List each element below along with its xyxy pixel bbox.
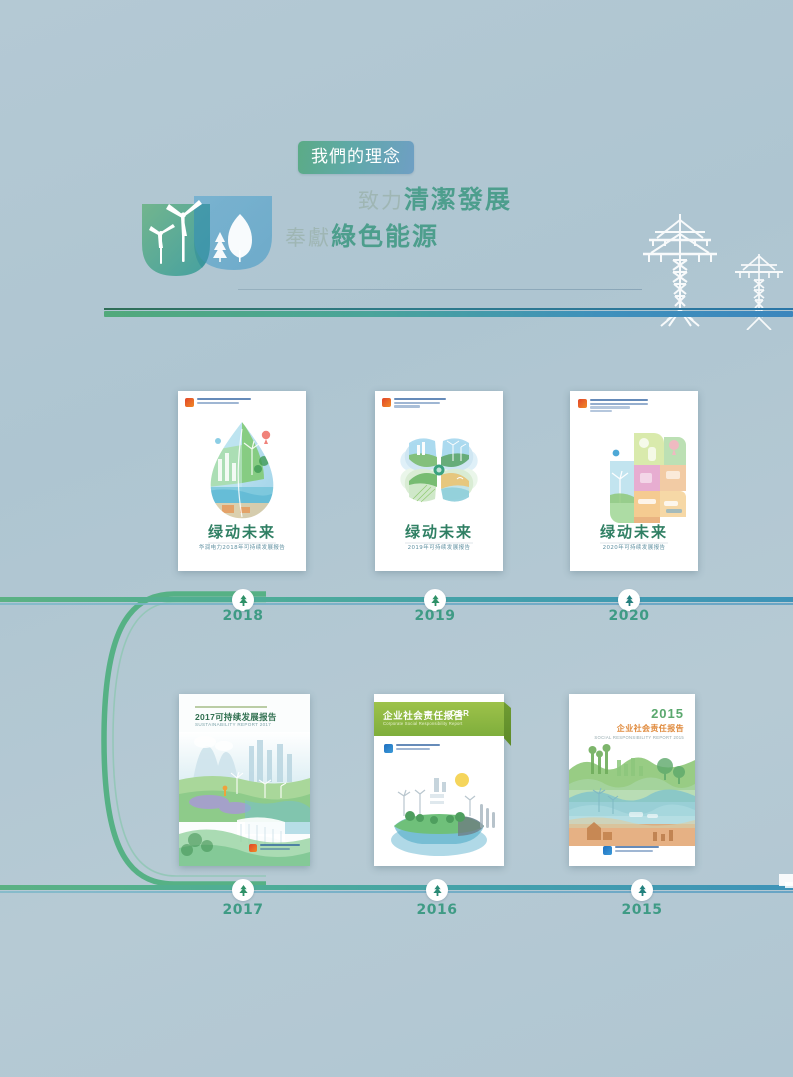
report-cover-2016[interactable]: 企业社会责任报告 CSR Corporate Social Responsibi… [374,694,504,866]
cover-subtitle-2015: SOCIAL RESPONSIBILITY REPORT 2015 [594,735,684,740]
tagline-line-2-light: 奉獻 [285,226,331,250]
tagline-line-2-bold: 綠色能源 [331,222,439,251]
pine-tree-icon [429,594,442,607]
divider-thick-bar [104,311,793,317]
publisher-text-lines [394,398,446,408]
cover-kicker-2017 [195,706,267,708]
cover-publisher-logo-2019 [382,398,446,408]
report-cover-2019[interactable]: 绿动未来 2019年可持续发展报告 [375,391,503,571]
pine-tree-icon [636,884,649,897]
publisher-text-lines [615,846,659,852]
timeline-line-thick [0,597,793,602]
report-cover-2017[interactable]: 2017可持续发展报告 SUSTAINABILITY REPORT 2017 [179,694,310,866]
timeline-marker-2015[interactable] [631,879,653,901]
publisher-text-lines [396,744,440,750]
edge-artifact-small [785,882,793,888]
publisher-mark-icon [384,744,393,753]
pine-tree-icon [431,884,444,897]
timeline-row-top [0,597,793,605]
cover-subtitle-2017: SUSTAINABILITY REPORT 2017 [195,722,271,727]
cover-subtitle-2020: 2020年可持续发展报告 [570,543,698,551]
timeline-row-bottom [0,885,793,893]
timeline-marker-2016[interactable] [426,879,448,901]
divider-hairline [104,308,793,310]
publisher-text-lines [260,844,300,850]
cover-title-badge-2016: CSR [450,709,470,718]
timeline-line-thick [0,885,793,890]
publisher-mark-icon [382,398,391,407]
timeline-line-thin [0,891,793,893]
cover-publisher-logo-2018 [185,398,251,407]
header-thin-rule [238,289,642,290]
report-cover-2015[interactable]: 2015 企业社会责任报告 SOCIAL RESPONSIBILITY REPO… [569,694,695,866]
tagline-line-2: 奉獻綠色能源 [285,220,705,253]
cover-publisher-logo-2017 [249,844,300,852]
tagline-line-1: 致力清潔發展 [285,183,705,216]
tagline-line-1-bold: 清潔發展 [404,185,512,214]
timeline-year-2015: 2015 [607,902,677,918]
cover-subtitle-2016: Corporate Social Responsibility Report [383,721,463,726]
publisher-mark-icon [249,844,257,852]
timeline-year-2017: 2017 [208,902,278,918]
page-header: 我們的理念 致力清潔發展 奉獻綠色能源 [0,0,793,330]
cover-subtitle-2019: 2019年可持续发展报告 [375,543,503,551]
report-cover-2018[interactable]: 绿动未来 华润电力2018年可持续发展报告 [178,391,306,571]
wind-turbine-leaf-logo [136,192,286,288]
cover-publisher-logo-2020 [578,399,648,412]
cover-publisher-logo-2015 [603,846,659,855]
publisher-mark-icon [603,846,612,855]
timeline-year-2019: 2019 [400,608,470,624]
cover-title-2018: 绿动未来 [178,521,306,542]
section-badge: 我們的理念 [298,141,414,174]
pine-tree-icon [237,884,250,897]
gradient-divider-bar [104,308,793,320]
timeline-line-thin [0,603,793,605]
publisher-mark-icon [185,398,194,407]
tagline-line-1-light: 致力 [358,189,404,213]
cover-title-2019: 绿动未来 [375,521,503,542]
timeline-marker-2017[interactable] [232,879,254,901]
timeline-year-2016: 2016 [402,902,472,918]
publisher-text-lines [197,398,251,404]
timeline-year-2018: 2018 [208,608,278,624]
cover-year-2015: 2015 [651,706,684,721]
cover-title-2020: 绿动未来 [570,521,698,542]
cover-ribbon-tail-2016 [504,702,511,746]
publisher-text-lines [590,399,648,412]
tagline-block: 致力清潔發展 奉獻綠色能源 [285,183,705,253]
report-cover-2020[interactable]: 绿动未来 2020年可持续发展报告 [570,391,698,571]
pine-tree-icon [623,594,636,607]
timeline-year-2020: 2020 [594,608,664,624]
publisher-mark-icon [578,399,587,408]
cover-subtitle-2018: 华润电力2018年可持续发展报告 [178,543,306,551]
cover-publisher-logo-2016 [384,744,440,753]
cover-title-2015: 企业社会责任报告 [617,723,684,734]
edge-artifact [779,874,793,886]
pine-tree-icon [237,594,250,607]
